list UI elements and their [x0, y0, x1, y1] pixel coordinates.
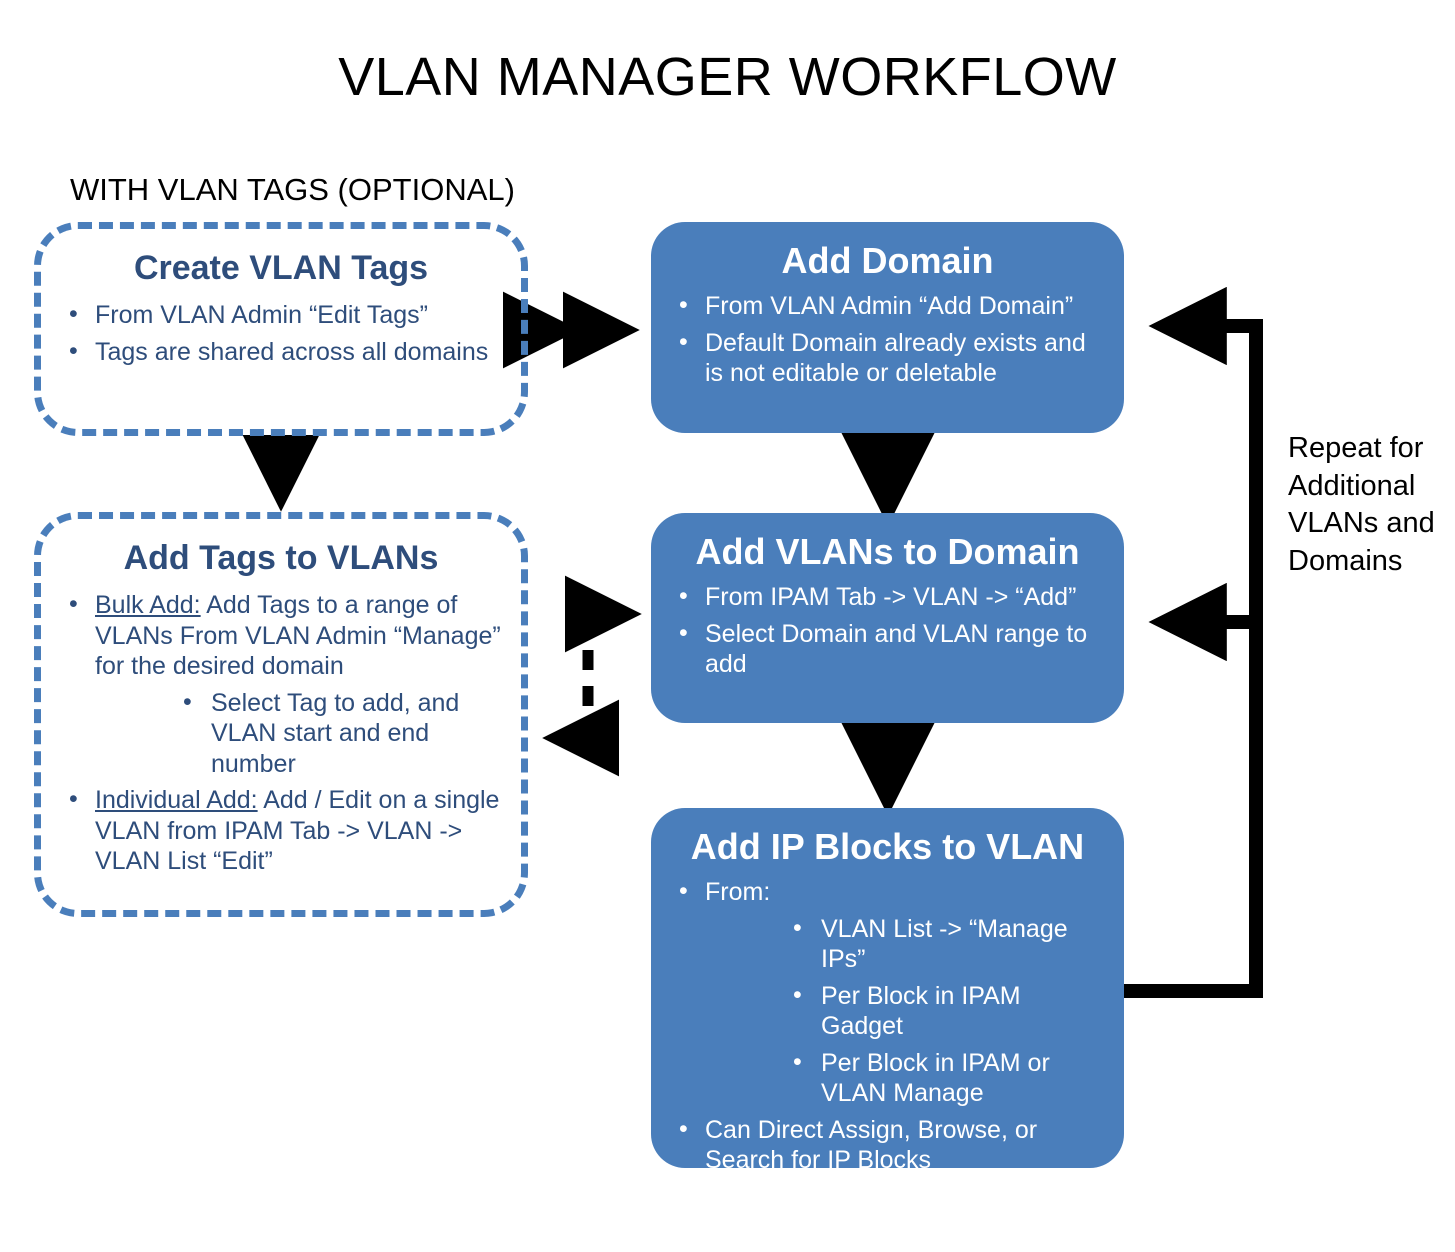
bullet-text: From IPAM Tab -> VLAN -> “Add”: [705, 583, 1076, 611]
bullet-list: Bulk Add: Add Tags to a range of VLANs F…: [41, 590, 521, 877]
bullet-text: Tags are shared across all domains: [95, 338, 488, 366]
step-box-add-domain[interactable]: Add Domain From VLAN Admin “Add Domain” …: [651, 222, 1124, 433]
box-title: Create VLAN Tags: [41, 249, 521, 288]
diagram-canvas: VLAN MANAGER WORKFLOW WITH VLAN TAGS (OP…: [0, 0, 1455, 1252]
arrow-repeat-to-vlans: [1123, 622, 1256, 991]
bullet-text: VLAN List -> “Manage IPs”: [821, 915, 1068, 974]
bullet-list: From: VLAN List -> “Manage IPs” Per Bloc…: [651, 877, 1124, 1176]
bullet-lead: Bulk Add:: [95, 591, 201, 619]
list-item: Select Tag to add, and VLAN start and en…: [65, 688, 505, 780]
list-item: Per Block in IPAM Gadget: [675, 981, 1108, 1042]
bullet-list: From IPAM Tab -> VLAN -> “Add” Select Do…: [651, 582, 1124, 680]
list-item: VLAN List -> “Manage IPs”: [675, 914, 1108, 975]
repeat-loop-label: Repeat for Additional VLANs and Domains: [1288, 430, 1448, 581]
step-box-add-ip-blocks-to-vlan[interactable]: Add IP Blocks to VLAN From: VLAN List ->…: [651, 808, 1124, 1168]
optional-box-create-vlan-tags[interactable]: Create VLAN Tags From VLAN Admin “Edit T…: [34, 222, 528, 436]
box-title: Add VLANs to Domain: [651, 531, 1124, 572]
optional-box-add-tags-to-vlans[interactable]: Add Tags to VLANs Bulk Add: Add Tags to …: [34, 512, 528, 917]
list-item: From VLAN Admin “Add Domain”: [675, 291, 1108, 322]
list-item: Select Domain and VLAN range to add: [675, 619, 1108, 680]
bullet-text: Default Domain already exists and is not…: [705, 329, 1086, 388]
list-item: Default Domain already exists and is not…: [675, 328, 1108, 389]
bullet-list: From VLAN Admin “Add Domain” Default Dom…: [651, 291, 1124, 389]
list-item: Per Block in IPAM or VLAN Manage: [675, 1048, 1108, 1109]
arrow-addtags-vlans-loop: [562, 614, 622, 738]
bullet-text: Per Block in IPAM Gadget: [821, 982, 1021, 1041]
arrow-repeat-to-domain: [1168, 326, 1256, 622]
list-item: Bulk Add: Add Tags to a range of VLANs F…: [65, 590, 505, 682]
bullet-list: From VLAN Admin “Edit Tags” Tags are sha…: [41, 300, 521, 367]
bullet-text: Select Tag to add, and VLAN start and en…: [211, 689, 459, 778]
list-item: Tags are shared across all domains: [65, 337, 505, 368]
bullet-text: Per Block in IPAM or VLAN Manage: [821, 1049, 1050, 1108]
list-item: From:: [675, 877, 1108, 908]
box-title: Add Tags to VLANs: [41, 539, 521, 578]
bullet-text: From VLAN Admin “Edit Tags”: [95, 301, 428, 329]
step-box-add-vlans-to-domain[interactable]: Add VLANs to Domain From IPAM Tab -> VLA…: [651, 513, 1124, 723]
box-title: Add IP Blocks to VLAN: [651, 826, 1124, 867]
section-caption: WITH VLAN TAGS (OPTIONAL): [70, 172, 515, 208]
list-item: From IPAM Tab -> VLAN -> “Add”: [675, 582, 1108, 613]
bullet-text: Select Domain and VLAN range to add: [705, 620, 1087, 679]
bullet-text: Can Direct Assign, Browse, or Search for…: [705, 1116, 1037, 1175]
list-item: Individual Add: Add / Edit on a single V…: [65, 785, 505, 877]
box-title: Add Domain: [651, 240, 1124, 281]
bullet-text: From VLAN Admin “Add Domain”: [705, 292, 1073, 320]
list-item: Can Direct Assign, Browse, or Search for…: [675, 1115, 1108, 1176]
bullet-lead: Individual Add:: [95, 786, 258, 814]
page-title: VLAN MANAGER WORKFLOW: [0, 46, 1455, 108]
list-item: From VLAN Admin “Edit Tags”: [65, 300, 505, 331]
bullet-text: From:: [705, 878, 770, 906]
